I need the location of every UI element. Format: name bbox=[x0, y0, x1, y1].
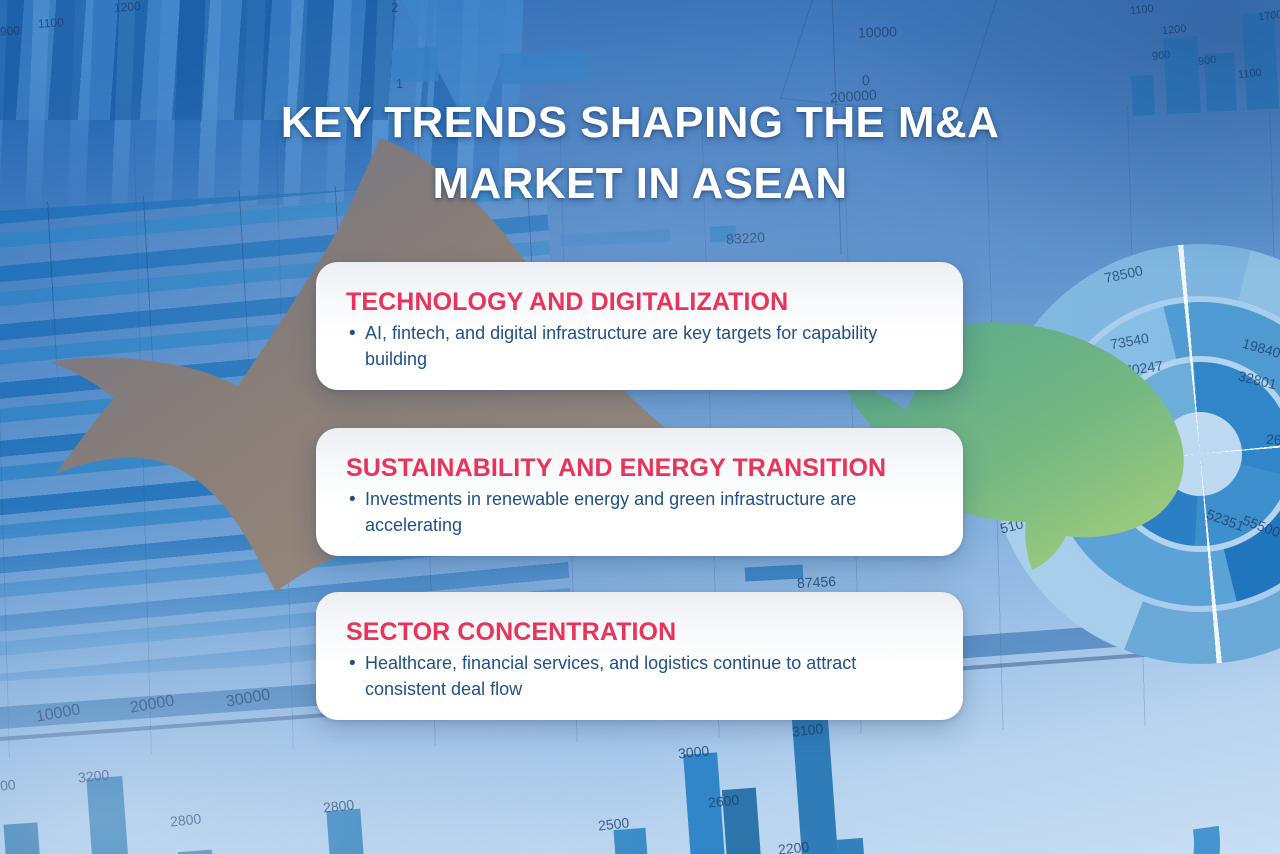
bullet-dot-icon: • bbox=[346, 487, 365, 513]
trend-card-bullet-text: Healthcare, financial services, and logi… bbox=[365, 651, 925, 702]
trend-card-heading: TECHNOLOGY AND DIGITALIZATION bbox=[346, 288, 933, 317]
trend-card-bullet: • Investments in renewable energy and gr… bbox=[346, 487, 933, 538]
bullet-dot-icon: • bbox=[346, 651, 365, 677]
trend-card-bullet: • Healthcare, financial services, and lo… bbox=[346, 651, 933, 702]
trend-card-bullet-text: AI, fintech, and digital infrastructure … bbox=[365, 321, 925, 372]
infographic-slide: 9001100120021100000200000110012009009001… bbox=[0, 0, 1280, 854]
trend-card: SECTOR CONCENTRATION • Healthcare, finan… bbox=[316, 592, 963, 720]
trend-card-heading: SUSTAINABILITY AND ENERGY TRANSITION bbox=[346, 454, 933, 483]
page-title: KEY TRENDS SHAPING THE M&A MARKET IN ASE… bbox=[0, 92, 1280, 214]
trend-card-heading: SECTOR CONCENTRATION bbox=[346, 618, 933, 647]
bullet-dot-icon: • bbox=[346, 321, 365, 347]
trend-card: SUSTAINABILITY AND ENERGY TRANSITION • I… bbox=[316, 428, 963, 556]
trend-card-bullet: • AI, fintech, and digital infrastructur… bbox=[346, 321, 933, 372]
trend-card-bullet-text: Investments in renewable energy and gree… bbox=[365, 487, 925, 538]
trend-card: TECHNOLOGY AND DIGITALIZATION • AI, fint… bbox=[316, 262, 963, 390]
